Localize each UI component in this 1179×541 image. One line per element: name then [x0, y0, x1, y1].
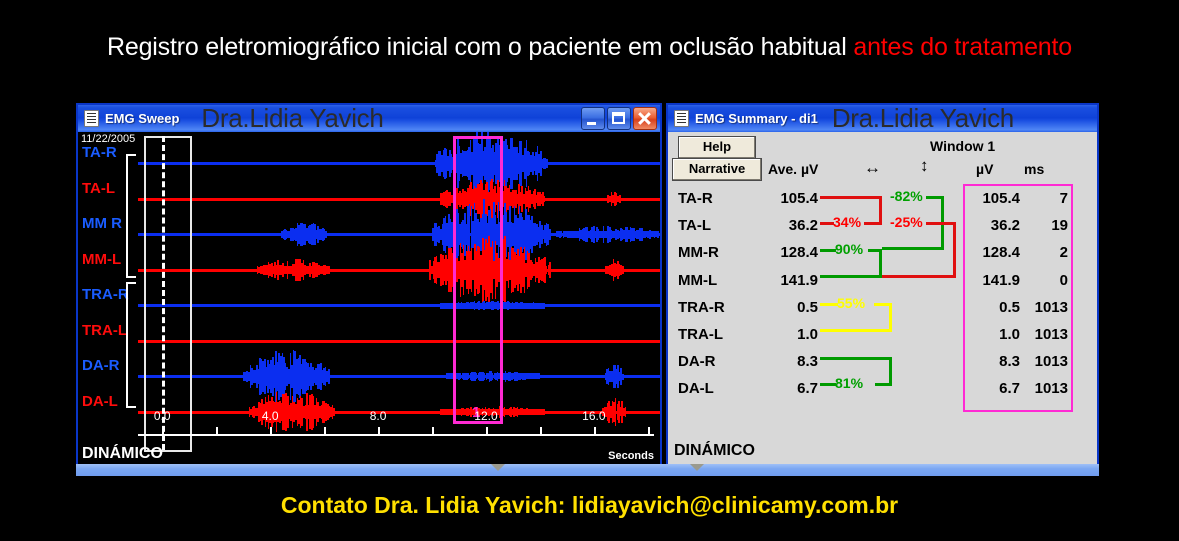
group-bracket-upper — [126, 154, 136, 278]
x-tick — [594, 427, 596, 435]
sweep-status-label: DINÁMICO — [82, 445, 163, 463]
col-header-uv: µV — [976, 161, 993, 177]
connector-ta-bot — [820, 222, 834, 225]
row-uv-tra-r: 0.5 — [968, 299, 1020, 316]
connector-mm-right — [879, 249, 882, 276]
emg-summary-overlay-title: Dra.Lidia Yavich — [832, 105, 1014, 132]
connector-mid-green-h — [882, 247, 944, 250]
close-icon[interactable] — [633, 107, 657, 130]
vertical-arrow-icon: ↕ — [920, 156, 929, 176]
row-ave-mm-l: 141.9 — [758, 272, 818, 289]
row-ms-tra-l: 1013 — [1020, 326, 1068, 343]
connector-cross-h-bot — [882, 275, 956, 278]
row-label-tra-l: TRA-L — [678, 326, 723, 343]
row-label-tra-r: TRA-R — [678, 299, 725, 316]
burst-da-l-2 — [602, 397, 626, 427]
connector-ta-right — [879, 196, 882, 223]
x-tick — [162, 427, 164, 435]
x-minor-tick — [216, 427, 218, 435]
contact-caption: Contato Dra. Lidia Yavich: lidiayavich@c… — [0, 492, 1179, 519]
connector-ta-bot2 — [864, 222, 882, 225]
group-bracket-lower — [126, 282, 136, 408]
x-tick-label: 8.0 — [370, 409, 387, 423]
row-label-ta-l: TA-L — [678, 217, 711, 234]
trace-baseline-ta-l — [138, 198, 660, 201]
row-label-ta-r: TA-R — [678, 190, 713, 207]
row-ave-ta-r: 105.4 — [758, 190, 818, 207]
connector-tra-top — [820, 303, 838, 306]
row-ms-da-l: 1013 — [1020, 380, 1068, 397]
burst-da-r-2 — [605, 363, 624, 390]
connector-da-bot — [820, 383, 836, 386]
pct-ta-pair: 34% — [833, 214, 861, 230]
row-ave-da-r: 8.3 — [758, 353, 818, 370]
x-tick — [486, 427, 488, 435]
pct-mm-pair: 90% — [835, 241, 863, 257]
bottom-strip-left[interactable] — [76, 464, 1099, 476]
x-tick-label: 0.0 — [154, 409, 171, 423]
connector-da-right — [889, 357, 892, 385]
strip-marker-2 — [690, 464, 704, 471]
emg-sweep-window: EMG Sweep Dra.Lidia Yavich 11/22/2005 TA… — [76, 103, 662, 464]
window-1-header: Window 1 — [930, 138, 995, 154]
row-ms-ta-r: 7 — [1020, 190, 1068, 207]
x-minor-tick — [324, 427, 326, 435]
x-tick-label: 4.0 — [262, 409, 279, 423]
row-ms-tra-r: 1013 — [1020, 299, 1068, 316]
x-tick-label: 12.0 — [474, 409, 497, 423]
page-title-main: Registro eletromiográfico inicial com o … — [107, 33, 853, 61]
channel-label-tra-l: TRA-L — [82, 322, 127, 339]
connector-tra-bot — [820, 329, 892, 332]
row-uv-da-r: 8.3 — [968, 353, 1020, 370]
burst-mm-r-0 — [281, 223, 327, 247]
col-header-ave-uv: Ave. µV — [768, 161, 818, 177]
row-ms-da-r: 1013 — [1020, 353, 1068, 370]
connector-tra-right — [889, 303, 892, 331]
row-ave-mm-r: 128.4 — [758, 244, 818, 261]
x-minor-tick — [540, 427, 542, 435]
row-ms-mm-r: 2 — [1020, 244, 1068, 261]
trace-baseline-tra-l — [138, 340, 660, 343]
burst-mm-l-2 — [605, 260, 624, 281]
row-uv-ta-l: 36.2 — [968, 217, 1020, 234]
burst-ta-l-1 — [607, 190, 620, 208]
channel-label-ta-r: TA-R — [82, 144, 117, 161]
page-title-highlight: antes do tratamento — [853, 33, 1072, 61]
cursor-window-box[interactable] — [144, 136, 192, 452]
x-tick-label: 16.0 — [582, 409, 605, 423]
window-controls — [581, 107, 657, 130]
row-ms-mm-l: 0 — [1020, 272, 1068, 289]
cursor-dashed-line[interactable] — [162, 136, 165, 450]
document-icon — [674, 110, 689, 127]
connector-mm-top — [820, 249, 836, 252]
x-minor-tick — [432, 427, 434, 435]
channel-label-da-r: DA-R — [82, 357, 120, 374]
col-header-ms: ms — [1024, 161, 1044, 177]
channel-label-ta-l: TA-L — [82, 180, 115, 197]
channel-label-tra-r: TRA-R — [82, 286, 129, 303]
x-tick — [270, 427, 272, 435]
emg-sweep-title: EMG Sweep — [105, 111, 179, 126]
trace-baseline-tra-r — [138, 304, 660, 307]
x-minor-tick — [648, 427, 650, 435]
help-button[interactable]: Help — [678, 136, 756, 159]
row-uv-da-l: 6.7 — [968, 380, 1020, 397]
row-uv-mm-r: 128.4 — [968, 244, 1020, 261]
maximize-button[interactable] — [607, 107, 631, 130]
connector-ta-top — [820, 196, 882, 199]
connector-mm-bot — [820, 275, 882, 278]
summary-status-label: DINÁMICO — [674, 442, 755, 460]
row-uv-ta-r: 105.4 — [968, 190, 1020, 207]
row-label-mm-l: MM-L — [678, 272, 717, 289]
row-label-da-l: DA-L — [678, 380, 714, 397]
connector-da-top — [820, 357, 892, 360]
selection-window-1[interactable] — [453, 136, 503, 424]
document-icon — [84, 110, 99, 127]
connector-cross-v — [953, 222, 956, 277]
x-tick — [378, 427, 380, 435]
trace-baseline-da-r — [138, 375, 660, 378]
channel-label-mm-l: MM-L — [82, 251, 121, 268]
row-uv-mm-l: 141.9 — [968, 272, 1020, 289]
strip-marker-1 — [491, 464, 505, 471]
connector-cross-h-top — [926, 222, 956, 225]
emg-summary-window: EMG Summary - di1 Dra.Lidia Yavich Help … — [666, 103, 1099, 464]
row-ave-tra-l: 1.0 — [758, 326, 818, 343]
emg-sweep-plot-area[interactable]: 11/22/2005 TA-RTA-LMM RMM-LTRA-RTRA-LDA-… — [78, 132, 660, 466]
x-axis-unit-label: Seconds — [608, 450, 654, 462]
channel-label-mm-r: MM R — [82, 215, 122, 232]
page-title: Registro eletromiográfico inicial com o … — [0, 33, 1179, 62]
row-ave-tra-r: 0.5 — [758, 299, 818, 316]
row-ave-da-l: 6.7 — [758, 380, 818, 397]
trace-baseline-ta-r — [138, 162, 660, 165]
screenshot-root: Registro eletromiográfico inicial com o … — [0, 0, 1179, 541]
narrative-button[interactable]: Narrative — [672, 158, 762, 181]
row-label-mm-r: MM-R — [678, 244, 719, 261]
row-label-da-r: DA-R — [678, 353, 716, 370]
minimize-button[interactable] — [581, 107, 605, 130]
pct-cross: -25% — [890, 214, 923, 230]
trace-baseline-mm-l — [138, 269, 660, 272]
emg-sweep-overlay-title: Dra.Lidia Yavich — [201, 105, 383, 132]
row-uv-tra-l: 1.0 — [968, 326, 1020, 343]
channel-label-da-l: DA-L — [82, 393, 118, 410]
horizontal-arrow-icon: ↔ — [864, 158, 881, 178]
emg-summary-body: Help Narrative Window 1 Ave. µV ↔ ↕ µV m… — [668, 132, 1097, 466]
row-ms-ta-l: 19 — [1020, 217, 1068, 234]
x-axis: 0.04.08.012.016.0 — [138, 435, 660, 436]
emg-sweep-titlebar[interactable]: EMG Sweep Dra.Lidia Yavich — [78, 105, 660, 132]
connector-da-bot2 — [875, 383, 892, 386]
burst-mm-l-0 — [257, 260, 330, 281]
pct-da-pair: 81% — [835, 375, 863, 391]
pct-tra-pair: 55% — [837, 295, 865, 311]
emg-summary-title: EMG Summary - di1 — [695, 111, 818, 126]
emg-summary-titlebar[interactable]: EMG Summary - di1 Dra.Lidia Yavich — [668, 105, 1097, 132]
row-ave-ta-l: 36.2 — [758, 217, 818, 234]
pct-ta-vs-mm: -82% — [890, 188, 923, 204]
burst-mm-r-2 — [556, 226, 659, 242]
